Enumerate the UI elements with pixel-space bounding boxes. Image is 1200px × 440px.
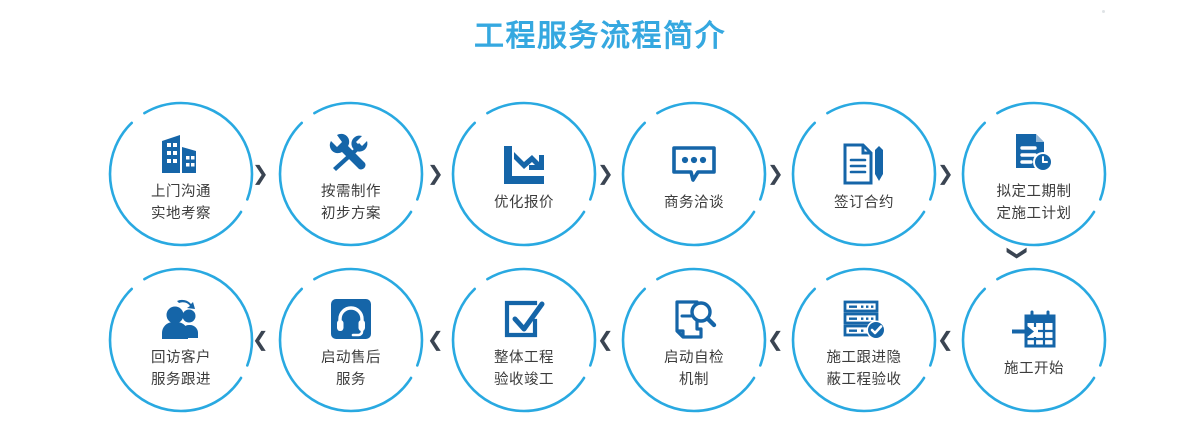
flow-step-label: 启动售后 服务: [321, 348, 381, 390]
flow-step-label: 按需制作 初步方案: [321, 182, 381, 224]
flow-step-label: 拟定工期制 定施工计划: [997, 182, 1072, 224]
flow-row-top: 上门沟通 实地考察 按需制作 初步方案: [0, 99, 1200, 249]
flow-step-2[interactable]: 按需制作 初步方案: [276, 99, 426, 249]
flow-step-label: 整体工程 验收竣工: [494, 348, 554, 390]
speech-bubble-icon: [670, 136, 718, 186]
flow-row-bottom: 回访客户 服务跟进 启动售后 服务: [0, 265, 1200, 415]
flow-step-12[interactable]: 回访客户 服务跟进: [106, 265, 256, 415]
flow-step-label: 施工跟进隐 蔽工程验收: [827, 348, 902, 390]
chevron-right-icon: [427, 163, 444, 183]
flow-step-11[interactable]: 启动售后 服务: [276, 265, 426, 415]
flow-step-7[interactable]: 施工开始: [959, 265, 1109, 415]
contract-document-pen-icon: [841, 136, 887, 186]
office-building-icon: [158, 125, 204, 175]
chevron-left-icon: [427, 329, 444, 349]
document-search-icon: [670, 291, 718, 341]
chevron-right-icon: [597, 163, 614, 183]
flow-step-6[interactable]: 拟定工期制 定施工计划: [959, 99, 1109, 249]
server-check-icon: [840, 291, 888, 341]
flow-step-8[interactable]: 施工跟进隐 蔽工程验收: [789, 265, 939, 415]
flow-step-3[interactable]: 优化报价: [449, 99, 599, 249]
checkbox-check-icon: [501, 291, 547, 341]
headset-support-icon: [329, 291, 373, 341]
chevron-right-icon: [937, 163, 954, 183]
chevron-left-icon: [597, 329, 614, 349]
corner-dot: [1102, 10, 1105, 13]
chevron-left-icon: [937, 329, 954, 349]
two-users-return-icon: [157, 291, 205, 341]
chevron-down-icon: [1008, 245, 1028, 262]
chevron-left-icon: [252, 329, 269, 349]
page-title: 工程服务流程简介: [0, 22, 1200, 52]
document-clock-icon: [1011, 125, 1057, 175]
chevron-left-icon: [767, 329, 784, 349]
flow-step-label: 签订合约: [834, 193, 894, 214]
calendar-start-icon: [1010, 302, 1058, 352]
chevron-right-icon: [767, 163, 784, 183]
flow-step-label: 优化报价: [494, 193, 554, 214]
flow-step-label: 上门沟通 实地考察: [151, 182, 211, 224]
flow-step-1[interactable]: 上门沟通 实地考察: [106, 99, 256, 249]
flow-step-label: 启动自检 机制: [664, 348, 724, 390]
flow-step-9[interactable]: 启动自检 机制: [619, 265, 769, 415]
wrench-screwdriver-icon: [327, 125, 375, 175]
flow-step-5[interactable]: 签订合约: [789, 99, 939, 249]
declining-chart-icon: [500, 136, 548, 186]
flow-step-label: 施工开始: [1004, 359, 1064, 380]
flow-step-10[interactable]: 整体工程 验收竣工: [449, 265, 599, 415]
flow-step-label: 回访客户 服务跟进: [151, 348, 211, 390]
flow-step-label: 商务洽谈: [664, 193, 724, 214]
flow-step-4[interactable]: 商务洽谈: [619, 99, 769, 249]
chevron-right-icon: [252, 163, 269, 183]
